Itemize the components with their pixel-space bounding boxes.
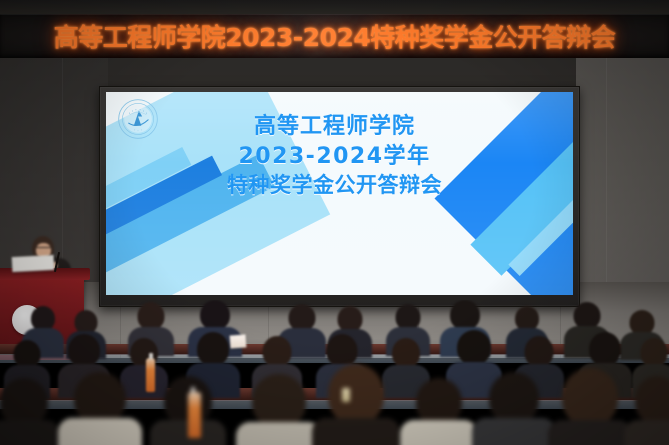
audience-member: [400, 378, 478, 445]
led-banner-text: 高等工程师学院2023-2024特种奖学金公开答辩会: [54, 18, 616, 54]
lecture-hall-scene: 高等工程师学院2023-2024特种奖学金公开答辩会: [0, 0, 669, 445]
hair-clip: [342, 388, 350, 402]
podium-papers: [12, 255, 55, 272]
audience-member: [472, 372, 556, 445]
presentation-slide: 高等工程师学院 2023-2024学年 特种奖学金公开答辩会: [106, 92, 573, 295]
led-banner: 高等工程师学院2023-2024特种奖学金公开答辩会: [0, 14, 669, 58]
audience-member: [0, 378, 60, 445]
audience-member: [236, 374, 322, 445]
slide-title-block: 高等工程师学院 2023-2024学年 特种奖学金公开答辩会: [106, 112, 563, 200]
audience-member: [312, 364, 400, 445]
water-bottle: [188, 392, 201, 438]
audience-member: [624, 376, 669, 445]
slide-title-line-3: 特种奖学金公开答辩会: [227, 172, 442, 200]
audience-member: [58, 372, 142, 445]
projection-screen-frame: 高等工程师学院 2023-2024学年 特种奖学金公开答辩会: [99, 86, 580, 307]
slide-title-line-1: 高等工程师学院: [254, 112, 415, 141]
slide-title-line-2: 2023-2024学年: [238, 142, 430, 171]
audience-member: [548, 368, 632, 445]
audience-area: [0, 300, 669, 445]
